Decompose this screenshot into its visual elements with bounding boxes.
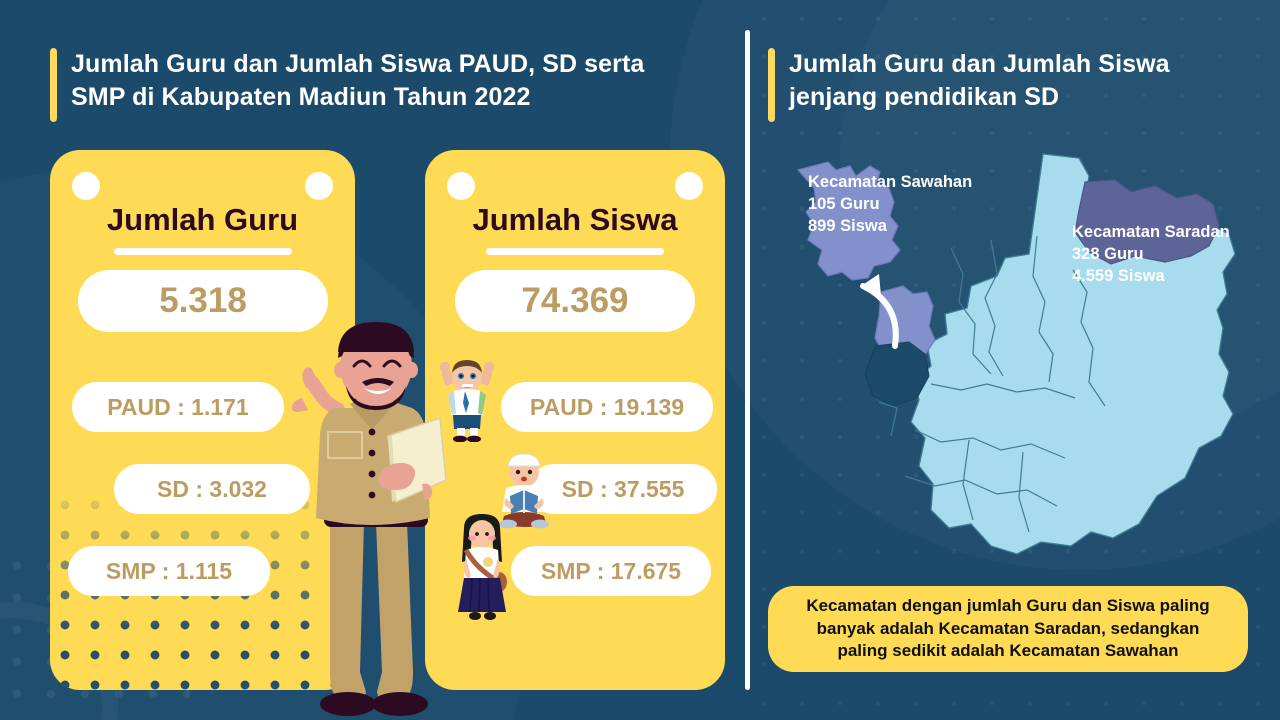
card-total-value: 74.369 bbox=[455, 270, 695, 332]
right-panel-title: Jumlah Guru dan Jumlah Siswa jenjang pen… bbox=[768, 48, 1238, 122]
student-boy-illustration bbox=[432, 358, 502, 442]
title-accent-bar bbox=[768, 48, 775, 122]
right-title-text: Jumlah Guru dan Jumlah Siswa jenjang pen… bbox=[789, 48, 1170, 113]
title-accent-bar bbox=[50, 48, 57, 122]
card-row-paud: PAUD : 19.139 bbox=[501, 382, 713, 432]
card-punch-hole-right bbox=[305, 172, 333, 200]
left-panel-title: Jumlah Guru dan Jumlah Siswa PAUD, SD se… bbox=[50, 48, 710, 122]
card-punch-hole-left bbox=[447, 172, 475, 200]
left-title-text: Jumlah Guru dan Jumlah Siswa PAUD, SD se… bbox=[71, 48, 644, 113]
card-title-underline bbox=[486, 248, 664, 255]
infographic-canvas: Jumlah Guru dan Jumlah Siswa PAUD, SD se… bbox=[0, 0, 1280, 720]
student-girl-illustration bbox=[452, 512, 512, 622]
panel-divider bbox=[745, 30, 750, 690]
card-title: Jumlah Guru bbox=[50, 202, 355, 238]
card-punch-hole-right bbox=[675, 172, 703, 200]
map-label-sawahan: Kecamatan Sawahan 105 Guru 899 Siswa bbox=[808, 172, 972, 238]
card-punch-hole-left bbox=[72, 172, 100, 200]
card-row-smp: SMP : 17.675 bbox=[511, 546, 711, 596]
map-label-saradan: Kecamatan Saradan 328 Guru 4.559 Siswa bbox=[1072, 222, 1230, 288]
card-title-underline bbox=[114, 248, 292, 255]
card-row-paud: PAUD : 1.171 bbox=[72, 382, 284, 432]
card-row-smp: SMP : 1.115 bbox=[68, 546, 270, 596]
summary-note: Kecamatan dengan jumlah Guru dan Siswa p… bbox=[768, 586, 1248, 672]
card-title: Jumlah Siswa bbox=[425, 202, 725, 238]
